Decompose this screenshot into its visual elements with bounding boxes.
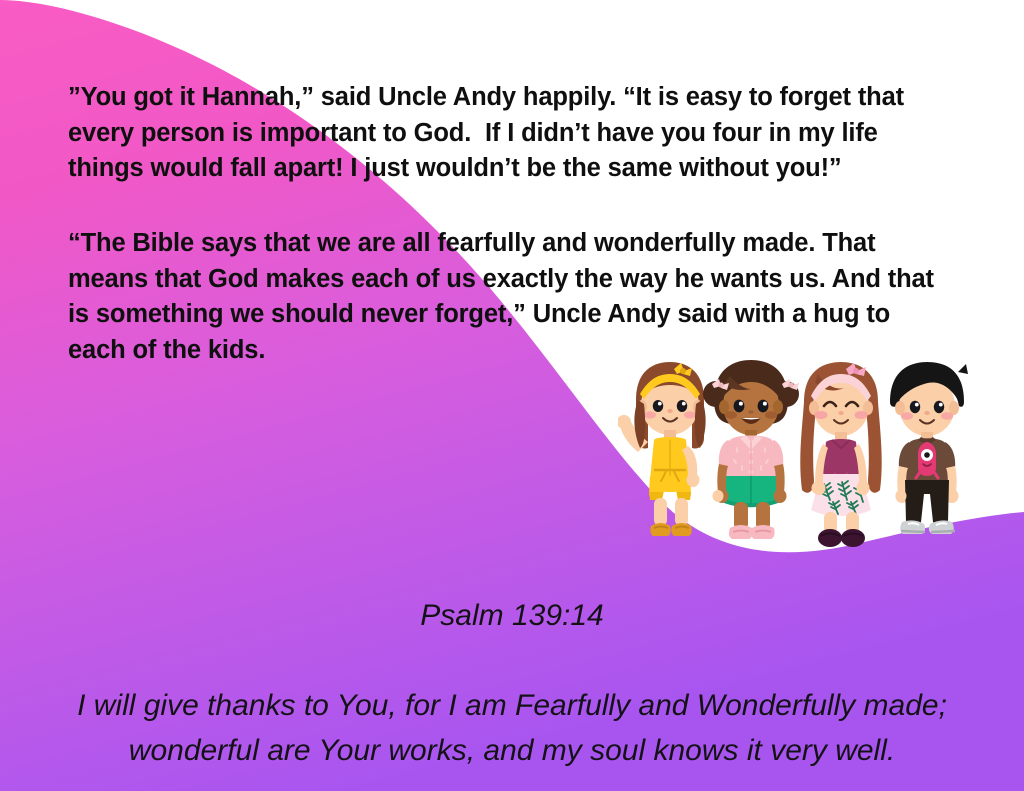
four-children-illustration [618, 360, 1008, 555]
story-paragraph-1: ”You got it Hannah,” said Uncle Andy hap… [68, 80, 958, 187]
child-girl-leaf-skirt [800, 362, 881, 547]
child-girl-pink-blouse [703, 360, 799, 539]
child-girl-yellow-romper [618, 362, 706, 536]
scripture-reference: Psalm 139:14 [64, 593, 960, 638]
child-boy-monster-shirt [890, 362, 968, 534]
slide-canvas: ”You got it Hannah,” said Uncle Andy hap… [0, 0, 1024, 791]
scripture-block: Psalm 139:14 I will give thanks to You, … [64, 548, 960, 773]
story-paragraph-2: “The Bible says that we are all fearfull… [68, 226, 948, 368]
scripture-verse: I will give thanks to You, for I am Fear… [77, 689, 947, 767]
